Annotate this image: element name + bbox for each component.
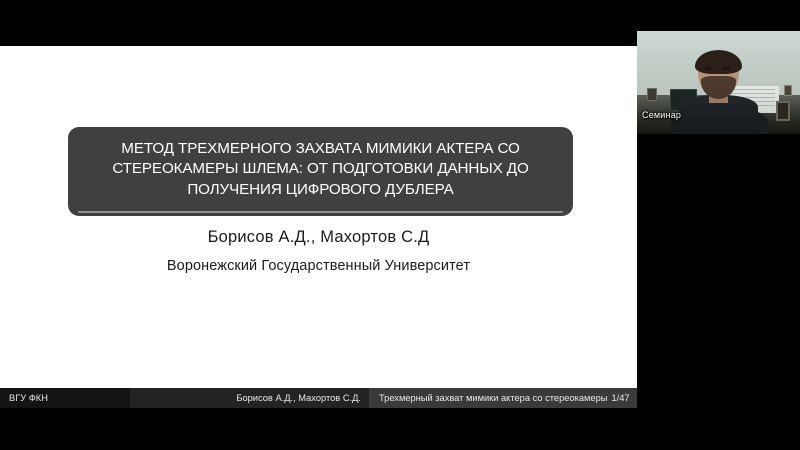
footer-institution-segment: ВГУ ФКН: [0, 388, 130, 408]
background-picture-frame-right-upper: [784, 85, 792, 96]
footer-authors-segment: Борисов А.Д., Махортов С.Д.: [130, 388, 369, 408]
presentation-viewer: МЕТОД ТРЕХМЕРНОГО ЗАХВАТА МИМИКИ АКТЕРА …: [0, 0, 800, 450]
participant-eye-right: [723, 67, 730, 70]
slide-authors: Борисов А.Д., Махортов С.Д: [0, 228, 637, 247]
footer-institution-label: ВГУ ФКН: [9, 393, 48, 403]
slide-canvas: МЕТОД ТРЕХМЕРНОГО ЗАХВАТА МИМИКИ АКТЕРА …: [0, 46, 637, 408]
footer-authors-label: Борисов А.Д., Махортов С.Д.: [236, 393, 361, 403]
participant-eye-left: [705, 67, 712, 70]
webcam-video-tile[interactable]: Семинар: [637, 31, 800, 134]
slide-footer-bar: ВГУ ФКН Борисов А.Д., Махортов С.Д. Трех…: [0, 388, 637, 408]
slide-title: МЕТОД ТРЕХМЕРНОГО ЗАХВАТА МИМИКИ АКТЕРА …: [112, 139, 528, 200]
slide-title-plate: МЕТОД ТРЕХМЕРНОГО ЗАХВАТА МИМИКИ АКТЕРА …: [68, 127, 573, 216]
title-underline-rule: [78, 211, 563, 213]
background-picture-frame-left: [647, 88, 657, 101]
slide-affiliation: Воронежский Государственный Университет: [0, 258, 637, 274]
footer-page-number: 1/47: [607, 393, 629, 403]
webcam-participant-name-label: Семинар: [642, 110, 681, 120]
footer-title-label: Трехмерный захват мимики актера со стере…: [379, 393, 607, 403]
background-picture-frame-right-lower: [776, 101, 791, 121]
footer-title-segment: Трехмерный захват мимики актера со стере…: [369, 388, 637, 408]
